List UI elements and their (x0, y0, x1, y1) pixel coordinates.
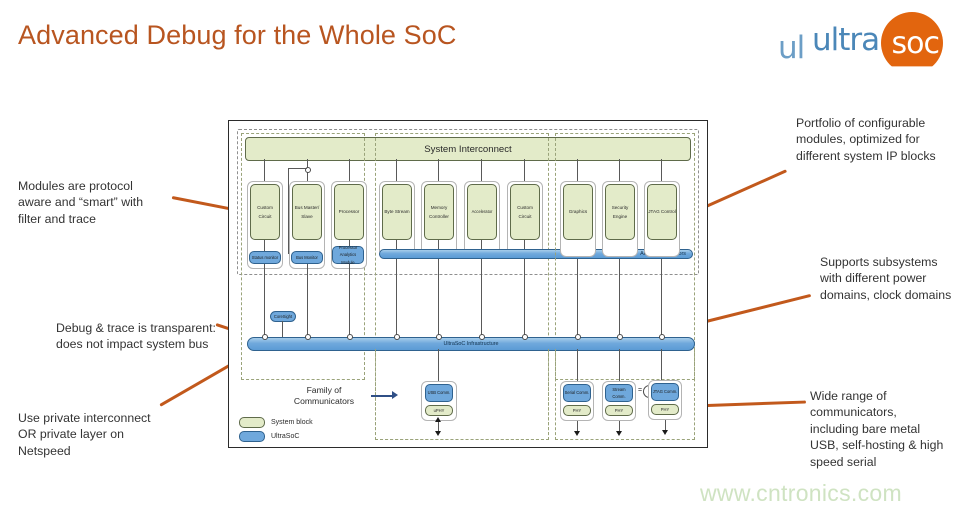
monitor-processor-analytics[interactable]: Processor Analytics Module (332, 246, 364, 264)
block-custom-circuit-1[interactable]: Custom Circuit (250, 184, 280, 240)
phy-stream[interactable]: PHY (605, 405, 633, 416)
callout-private-interconnect: Use private interconnect OR private laye… (18, 410, 158, 459)
tap-node (617, 334, 623, 340)
wire (619, 159, 620, 181)
arrow-down-icon (574, 431, 580, 436)
callout-modules-protocol-aware: Modules are protocol aware and “smart” w… (18, 178, 168, 227)
family-of-communicators-label: Family ofCommunicators (281, 385, 367, 407)
tap-node (436, 334, 442, 340)
wire (661, 259, 662, 342)
tap-node (575, 334, 581, 340)
monitor-bus-monitor[interactable]: Bus Monitor (291, 251, 323, 264)
callout-debug-transparent: Debug & trace is transparent: does not i… (56, 320, 216, 353)
leader-line-right-bottom (706, 401, 806, 407)
communicator-serial[interactable]: Serial Comm. (563, 384, 591, 402)
tap-node (522, 334, 528, 340)
communicator-region-usb (375, 349, 549, 440)
communicator-stream[interactable]: Stream Comm. (605, 384, 633, 402)
arrow-shaft (371, 395, 393, 397)
block-bus-master-slave[interactable]: Bus Master/ Slave (292, 184, 322, 240)
block-graphics[interactable]: Graphics (563, 184, 593, 240)
tap-node (262, 334, 268, 340)
wire (264, 264, 265, 342)
wire (661, 349, 662, 383)
block-memory-controller[interactable]: Memory Controller (424, 184, 454, 240)
leader-line-right-top (705, 169, 786, 207)
wire (524, 259, 525, 342)
legend-swatch-system-block (239, 417, 265, 428)
wire (661, 159, 662, 181)
wire (264, 159, 265, 181)
wire (619, 349, 620, 383)
logo-ultra-text: ultra (812, 22, 879, 58)
communicator-on-chip[interactable]: On-Chip (643, 385, 675, 398)
block-byte-stream[interactable]: Byte Stream (382, 184, 412, 240)
wire (577, 259, 578, 342)
wire (524, 159, 525, 181)
wire (289, 168, 307, 169)
callout-portfolio-modules: Portfolio of configurable modules, optim… (796, 115, 946, 164)
phy-usb[interactable]: uPHY (425, 405, 453, 416)
watermark: www.cntronics.com (700, 480, 902, 507)
arrow-up-icon (435, 417, 441, 422)
legend-label-ultrasoc: UltraSoC (271, 433, 299, 440)
wire (438, 349, 439, 383)
callout-communicators-range: Wide range of communicators, including b… (810, 388, 945, 470)
block-jtag-control[interactable]: JTAG Control (647, 184, 677, 240)
wire (396, 159, 397, 181)
legend-swatch-ultrasoc (239, 431, 265, 442)
arrow-head-icon (392, 391, 398, 399)
page-title: Advanced Debug for the Whole SoC (18, 20, 456, 51)
communicator-usb[interactable]: USB Comm. (425, 384, 453, 402)
logo-soc-text: soc (892, 26, 939, 61)
leader-line-right-mid (706, 294, 811, 323)
tap-node (394, 334, 400, 340)
wire (619, 259, 620, 342)
wire (481, 259, 482, 342)
equals-symbol: = (638, 387, 642, 394)
wire (577, 159, 578, 181)
wire (577, 349, 578, 383)
ultrasoc-logo: ul ultra soc (760, 12, 945, 74)
wire (349, 264, 350, 342)
wire (349, 159, 350, 181)
wire (396, 259, 397, 342)
phy-serial[interactable]: PHY (563, 405, 591, 416)
wire (307, 264, 308, 342)
block-security-engine[interactable]: Security Engine (605, 184, 635, 240)
legend-label-system-block: System block (271, 419, 313, 426)
wire (438, 259, 439, 342)
tap-node (479, 334, 485, 340)
block-accelerator[interactable]: Accelerator (467, 184, 497, 240)
logo-wordmark: ul ultra soc (760, 20, 945, 66)
monitor-status-monitor[interactable]: Status monitor (249, 251, 281, 264)
wire (438, 159, 439, 181)
arrow-down-icon (435, 431, 441, 436)
wire (481, 159, 482, 181)
tap-node (305, 334, 311, 340)
callout-power-domains: Supports subsystems with different power… (820, 254, 952, 303)
tap-node (659, 334, 665, 340)
logo-ul-text: ul (778, 30, 804, 66)
block-custom-circuit-2[interactable]: Custom Circuit (510, 184, 540, 240)
soc-architecture-diagram: System Interconnect Custom Circuit Statu… (228, 120, 708, 448)
arrow-down-icon (616, 431, 622, 436)
tap-node (347, 334, 353, 340)
block-processor[interactable]: Processor (334, 184, 364, 240)
wire (288, 168, 289, 254)
